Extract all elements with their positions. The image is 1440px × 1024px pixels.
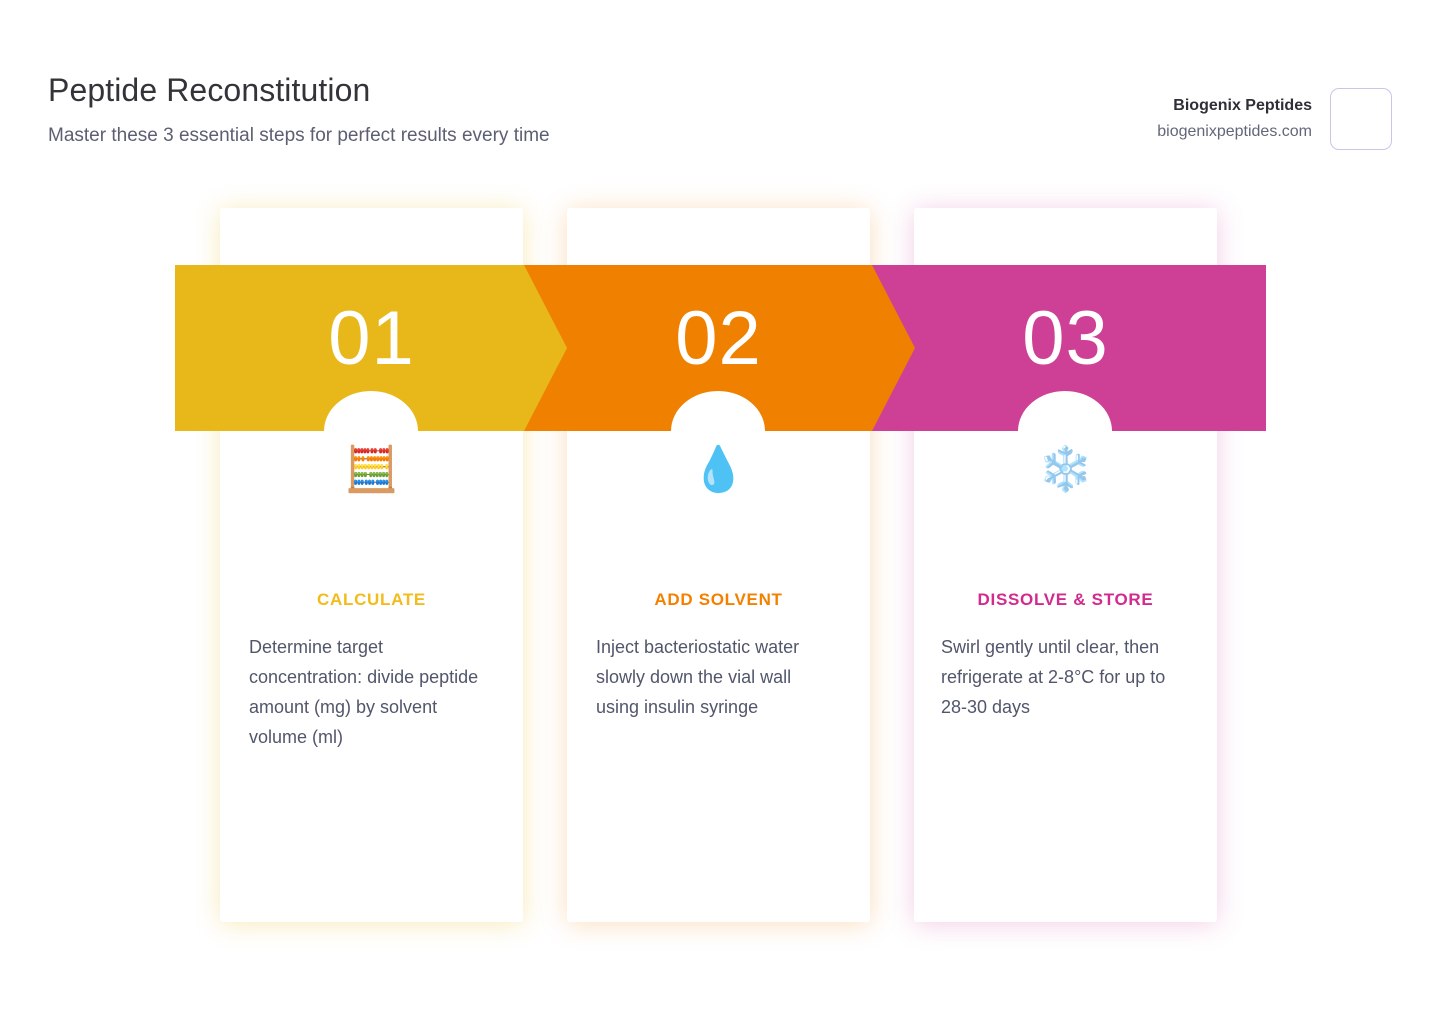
snowflake-icon: ❄️: [914, 441, 1217, 499]
abacus-icon: 🧮: [220, 441, 523, 499]
step-description-3: Swirl gently until clear, then refrigera…: [941, 632, 1171, 722]
step-description-1: Determine target concentration: divide p…: [249, 632, 479, 752]
steps-container: 01 02 03 🧮 💧 ❄️ CALCULATE ADD SOLVENT DI…: [0, 0, 1440, 1024]
step-heading-1: CALCULATE: [220, 588, 523, 612]
step-heading-2: ADD SOLVENT: [567, 588, 870, 612]
water-drop-icon: 💧: [567, 441, 870, 499]
step-description-2: Inject bacteriostatic water slowly down …: [596, 632, 826, 722]
step-heading-3: DISSOLVE & STORE: [914, 588, 1217, 612]
infographic-page: Peptide Reconstitution Master these 3 es…: [0, 0, 1440, 1024]
